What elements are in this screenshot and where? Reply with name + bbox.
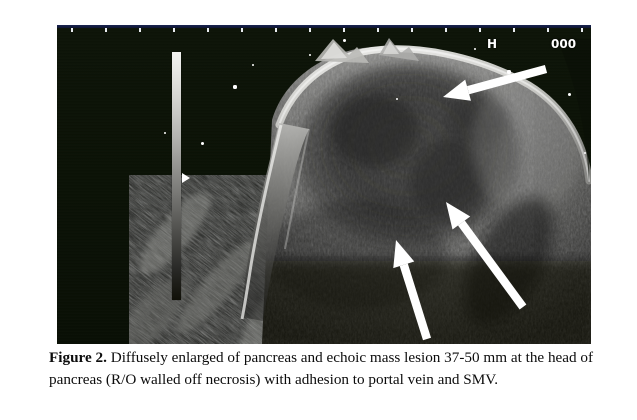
ultrasound-image: H 000 [57, 25, 591, 344]
figure-caption-text: Diffusely enlarged of pancreas and echoi… [49, 349, 593, 388]
figure-caption-label: Figure 2. [49, 349, 107, 366]
arrow-lower-right-pointing-up-left [446, 202, 526, 309]
arrow-upper-right-pointing-down-left [443, 65, 547, 101]
figure-block: H 000 Figure 2. Diffusely enlarged of pa… [0, 0, 637, 420]
annotation-arrow-layer [57, 25, 591, 344]
arrow-lower-center-pointing-up [393, 240, 431, 340]
figure-caption: Figure 2. Diffusely enlarged of pancreas… [49, 347, 629, 390]
